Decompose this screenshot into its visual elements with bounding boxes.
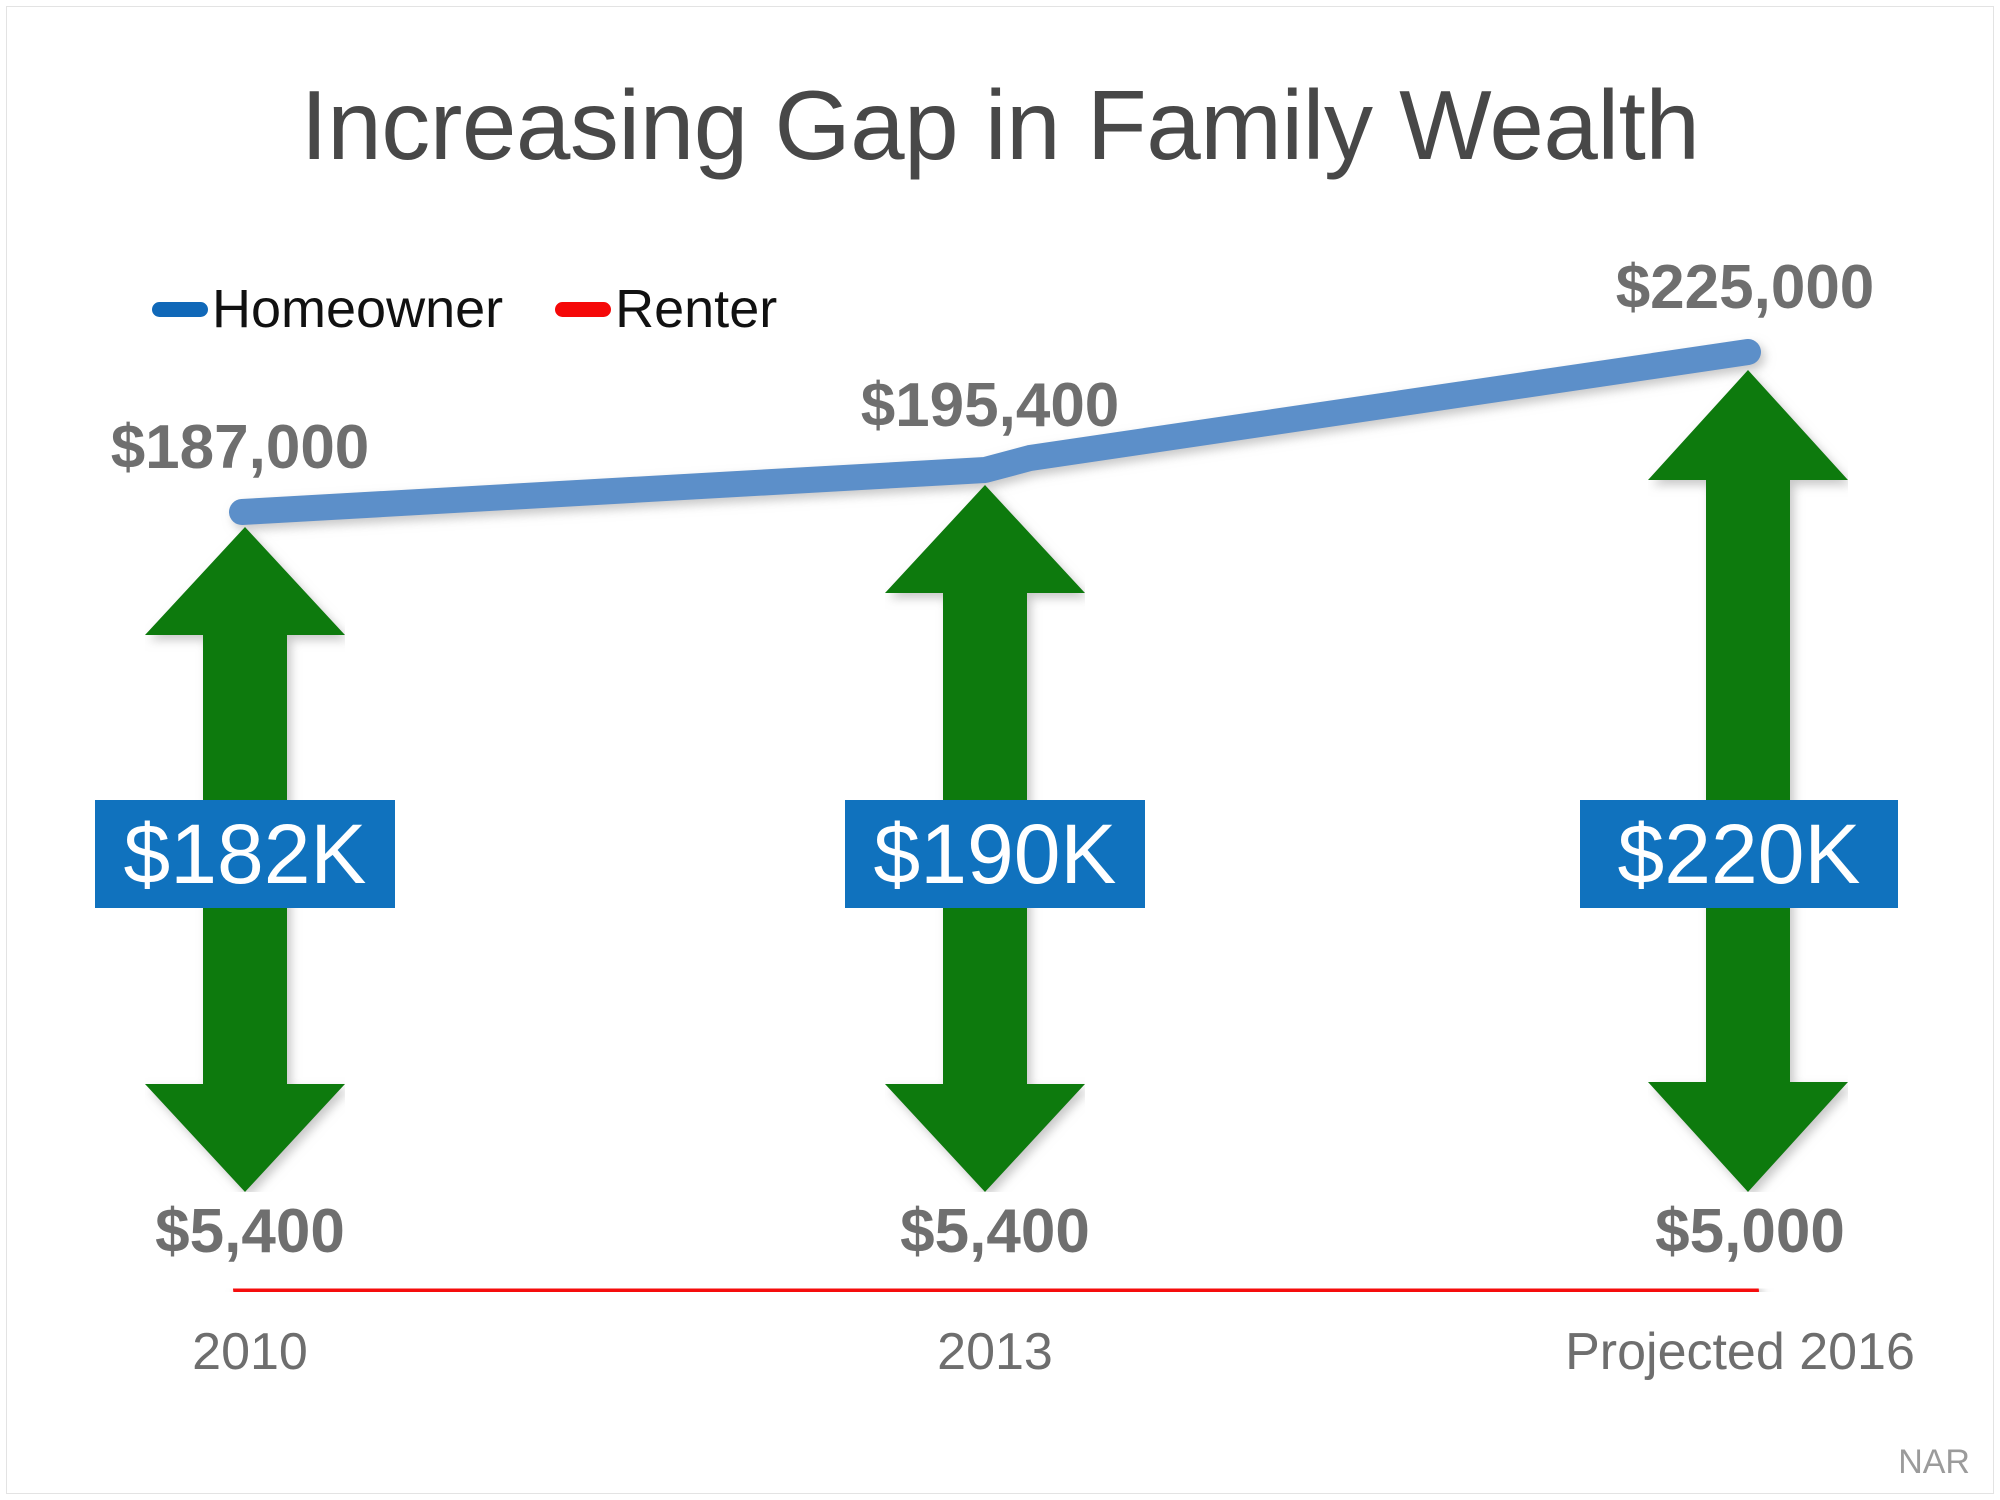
gap-value-box-2013: $190K (845, 800, 1145, 908)
gap-arrow-2016 (1648, 370, 1848, 1192)
renter-line-swatch-icon (555, 302, 611, 317)
source-watermark: NAR (1898, 1443, 1970, 1482)
renter-value-label-2013: $5,400 (795, 1196, 1195, 1267)
legend-label-renter: Renter (615, 282, 777, 336)
chart-slide: Increasing Gap in Family Wealth Homeowne… (0, 0, 2000, 1500)
axis-label-2010: 2010 (60, 1322, 440, 1382)
homeowner-value-label-2013: $195,400 (790, 370, 1190, 441)
renter-value-label-2010: $5,400 (50, 1196, 450, 1267)
legend-item-homeowner[interactable]: Homeowner (152, 282, 503, 336)
legend-label-homeowner: Homeowner (212, 282, 503, 336)
gap-value-box-2016: $220K (1580, 800, 1898, 908)
chart-legend: Homeowner Renter (152, 282, 777, 336)
homeowner-value-label-2016: $225,000 (1545, 252, 1945, 323)
renter-series-line (245, 1289, 1747, 1291)
homeowner-value-label-2010: $187,000 (40, 412, 440, 483)
gap-value-box-2010: $182K (95, 800, 395, 908)
legend-item-renter[interactable]: Renter (555, 282, 777, 336)
page-title: Increasing Gap in Family Wealth (0, 74, 2000, 177)
homeowner-line-swatch-icon (152, 302, 208, 317)
renter-value-label-2016: $5,000 (1550, 1196, 1950, 1267)
axis-label-projected-2016: Projected 2016 (1530, 1322, 1950, 1382)
axis-label-2013: 2013 (805, 1322, 1185, 1382)
